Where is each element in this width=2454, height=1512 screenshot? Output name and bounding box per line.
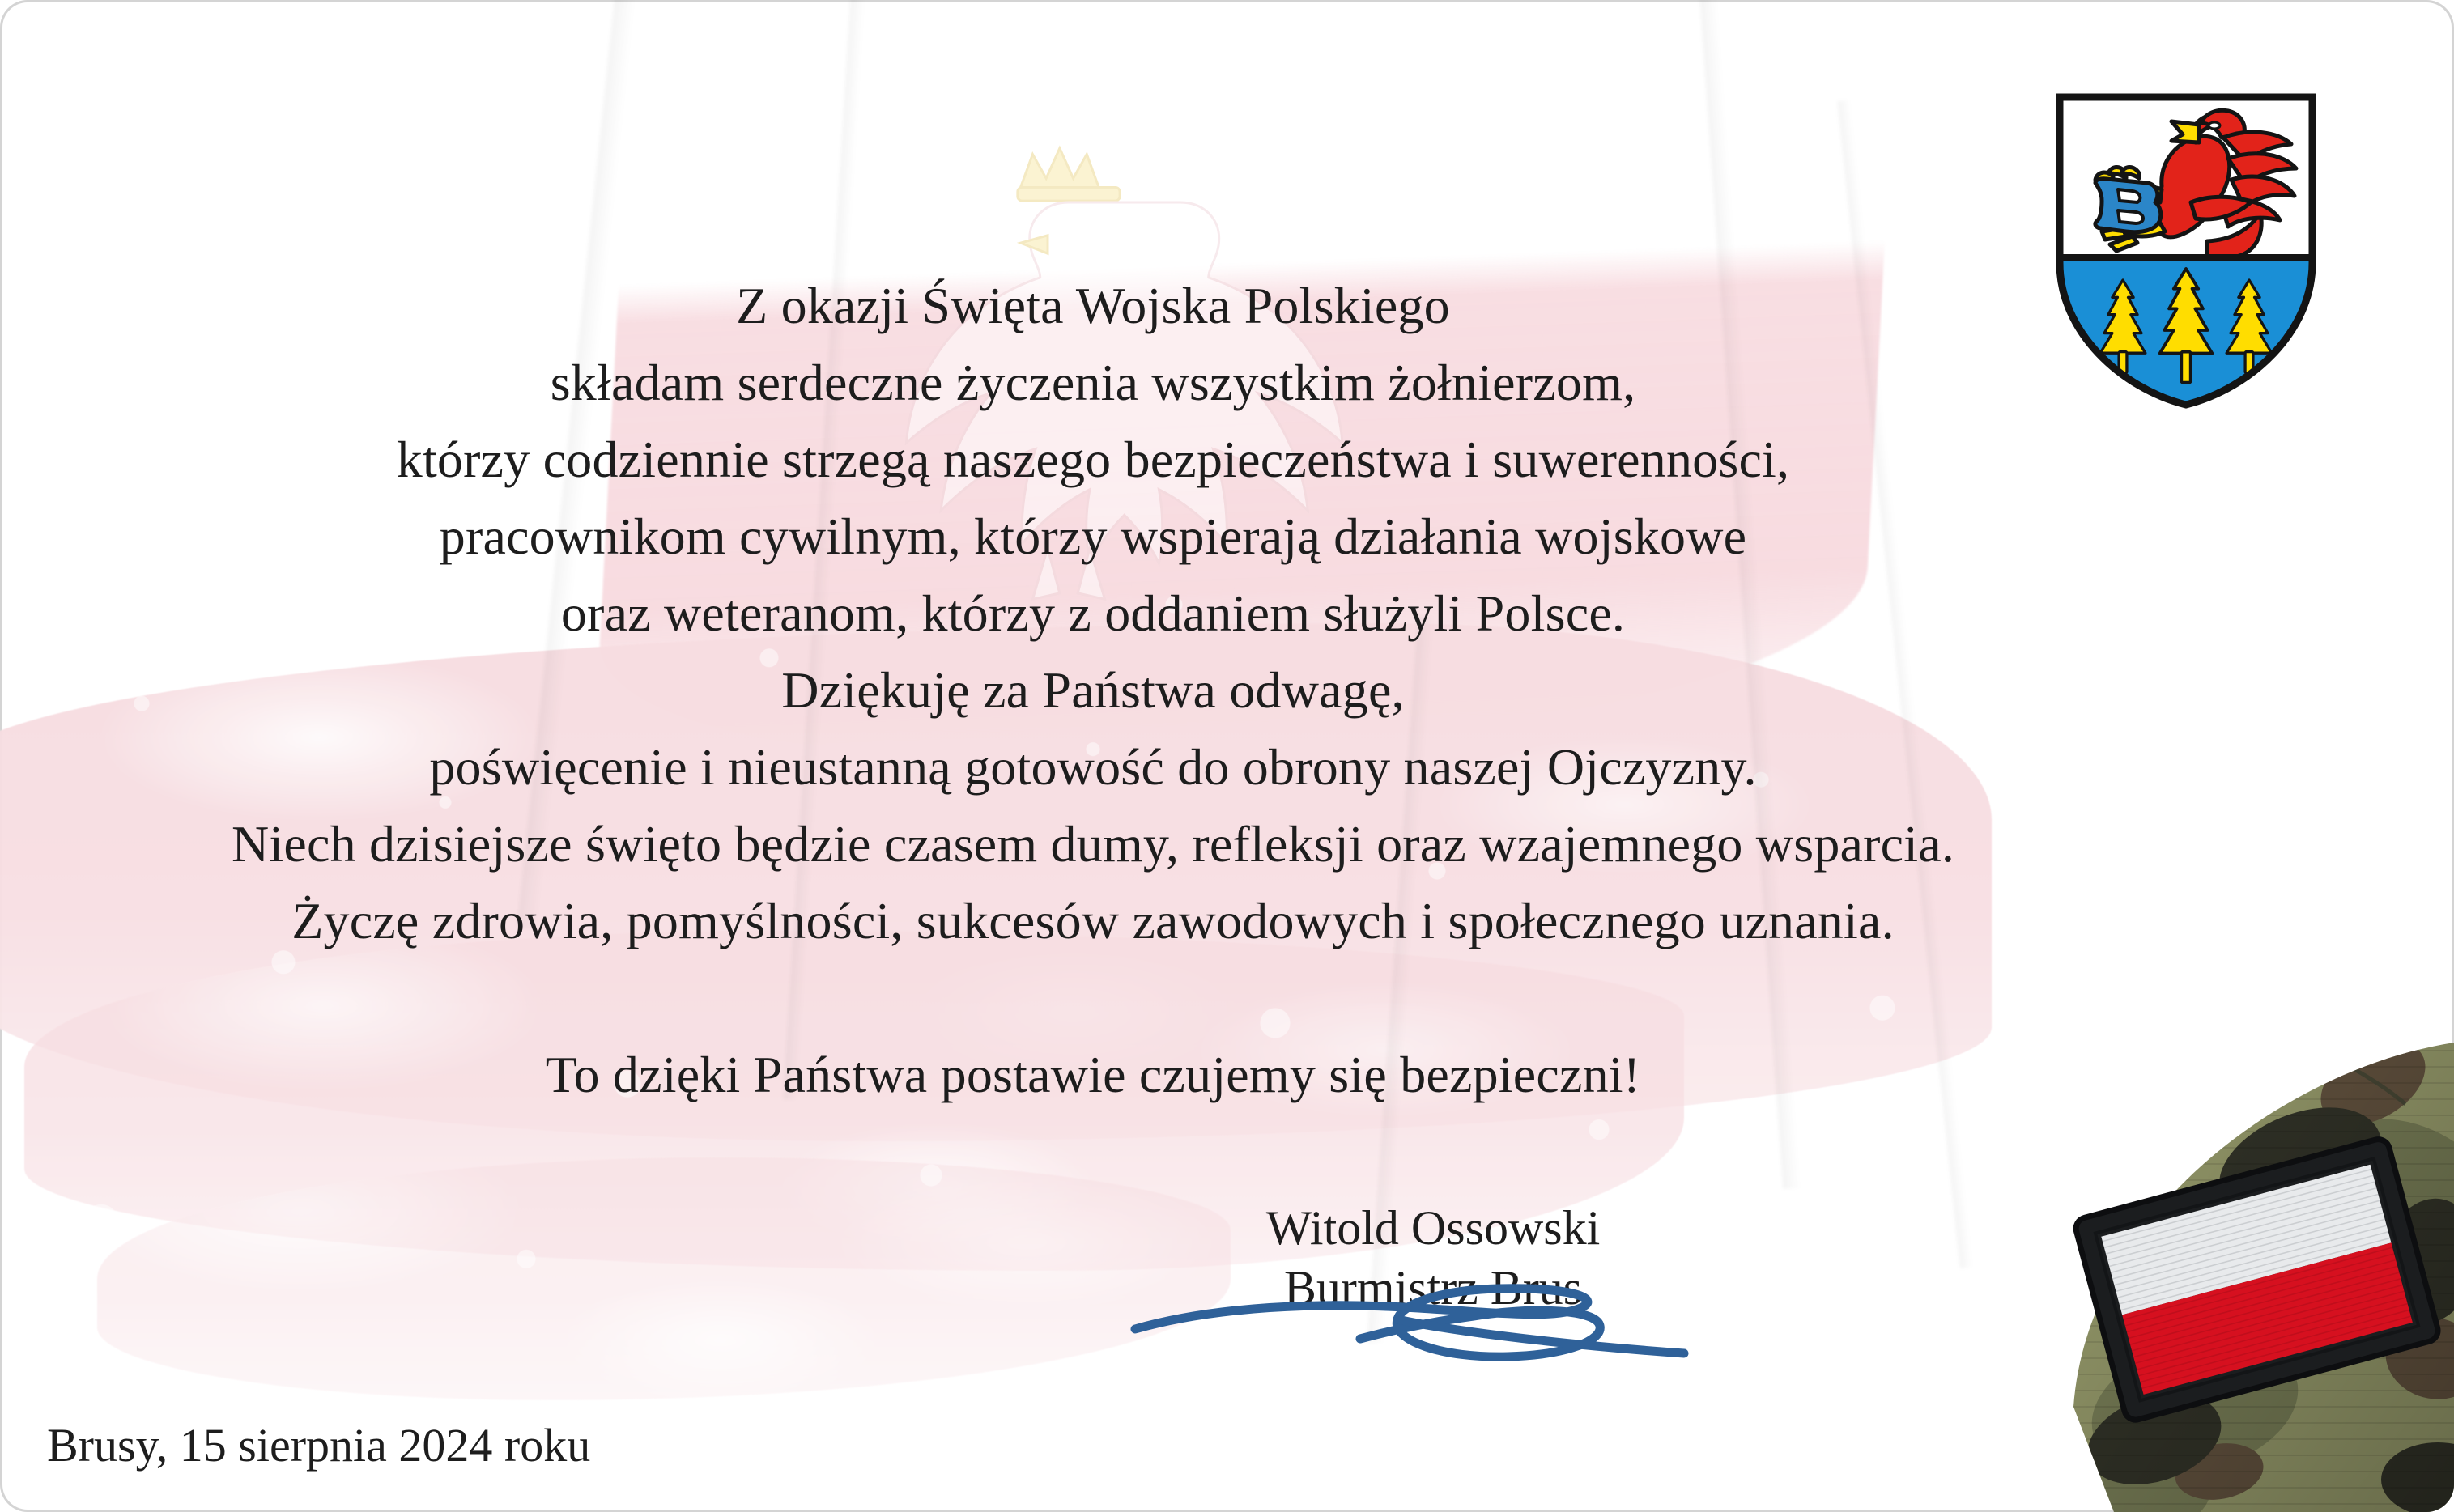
message-line-3: którzy codziennie strzegą naszego bezpie… <box>0 421 2186 498</box>
monogram-b <box>2095 179 2161 232</box>
message-line-2: składam serdeczne życzenia wszystkim żoł… <box>0 344 2186 421</box>
closing-line: To dzięki Państwa postawie czujemy się b… <box>0 1036 2186 1113</box>
message-line-8: Niech dzisiejsze święto będzie czasem du… <box>0 805 2186 882</box>
message-line-5: oraz weteranom, którzy z oddaniem służyl… <box>0 575 2186 652</box>
message-line-7: poświęcenie i nieustanną gotowość do obr… <box>0 728 2186 805</box>
signatory-name: Witold Ossowski <box>1133 1198 1733 1258</box>
signature-block: Witold Ossowski Burmistrz Brus <box>1133 1198 1733 1318</box>
paragraph-gap <box>0 959 2186 1036</box>
message-line-4: pracownikom cywilnym, którzy wspierają d… <box>0 498 2186 575</box>
flag-lower-pink-band-3 <box>97 1157 1231 1400</box>
greeting-card: Z okazji Święta Wojska Polskiego składam… <box>0 0 2454 1512</box>
message-body: Z okazji Święta Wojska Polskiego składam… <box>0 267 2186 1113</box>
message-line-9: Życzę zdrowia, pomyślności, sukcesów zaw… <box>0 882 2186 959</box>
signatory-title: Burmistrz Brus <box>1133 1258 1733 1318</box>
message-line-6: Dziękuję za Państwa odwagę, <box>0 652 2186 728</box>
date-line: Brusy, 15 sierpnia 2024 roku <box>47 1418 590 1472</box>
message-line-1: Z okazji Święta Wojska Polskiego <box>0 267 2186 344</box>
